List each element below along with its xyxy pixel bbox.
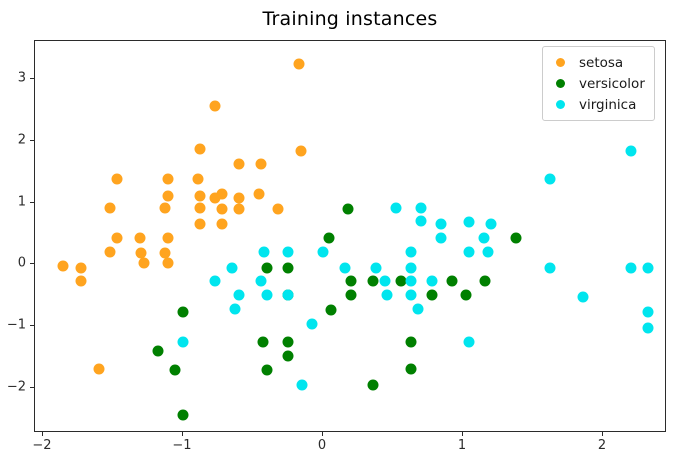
data-point-virginica (229, 303, 240, 314)
data-point-virginica (177, 337, 188, 348)
y-tick-mark (30, 78, 34, 79)
data-point-versicolor (261, 262, 272, 273)
data-point-setosa (253, 189, 264, 200)
data-point-virginica (282, 247, 293, 258)
data-point-versicolor (368, 379, 379, 390)
data-point-virginica (479, 232, 490, 243)
x-tick-label: 0 (318, 438, 326, 453)
data-point-versicolor (323, 232, 334, 243)
data-point-virginica (483, 247, 494, 258)
data-point-setosa (193, 174, 204, 185)
scatter-plot-figure: Training instances −2−1012 −2−10123 seto… (0, 0, 700, 457)
data-point-setosa (294, 59, 305, 70)
data-point-setosa (233, 159, 244, 170)
y-tick-label: 0 (18, 256, 26, 271)
y-tick-label: 1 (18, 194, 26, 209)
data-point-setosa (194, 219, 205, 230)
x-tick-label: 2 (598, 438, 606, 453)
data-point-virginica (486, 219, 497, 230)
data-point-versicolor (326, 305, 337, 316)
data-point-versicolor (346, 276, 357, 287)
data-point-setosa (75, 276, 86, 287)
legend: setosaversicolorvirginica (542, 46, 655, 121)
data-point-virginica (463, 337, 474, 348)
x-tick-mark (322, 432, 323, 436)
data-point-setosa (295, 145, 306, 156)
data-point-setosa (233, 192, 244, 203)
data-point-versicolor (446, 276, 457, 287)
data-point-virginica (544, 262, 555, 273)
data-point-virginica (413, 303, 424, 314)
x-tick-label: −1 (172, 438, 191, 453)
data-point-virginica (642, 262, 653, 273)
x-tick-label: 1 (458, 438, 466, 453)
data-point-setosa (57, 260, 68, 271)
legend-item-virginica[interactable]: virginica (550, 94, 645, 115)
data-point-virginica (379, 276, 390, 287)
data-point-virginica (390, 202, 401, 213)
legend-label: virginica (579, 97, 636, 113)
data-point-versicolor (406, 364, 417, 375)
data-point-setosa (162, 232, 173, 243)
x-tick-mark (602, 432, 603, 436)
data-point-virginica (626, 262, 637, 273)
data-point-setosa (105, 202, 116, 213)
data-point-virginica (544, 174, 555, 185)
data-point-setosa (105, 247, 116, 258)
x-tick-mark (42, 432, 43, 436)
legend-marker-icon (556, 100, 565, 109)
legend-item-setosa[interactable]: setosa (550, 52, 645, 73)
data-point-virginica (642, 307, 653, 318)
y-tick-mark (30, 202, 34, 203)
data-point-virginica (406, 262, 417, 273)
data-point-versicolor (152, 345, 163, 356)
data-point-setosa (233, 203, 244, 214)
data-point-virginica (578, 291, 589, 302)
data-point-versicolor (257, 337, 268, 348)
data-point-virginica (340, 262, 351, 273)
data-point-virginica (416, 216, 427, 227)
x-tick-mark (462, 432, 463, 436)
data-point-virginica (435, 219, 446, 230)
y-tick-label: −1 (7, 318, 26, 333)
data-point-setosa (210, 100, 221, 111)
data-point-versicolor (177, 410, 188, 421)
data-point-setosa (162, 258, 173, 269)
x-tick-mark (182, 432, 183, 436)
y-tick-mark (30, 387, 34, 388)
data-point-setosa (112, 174, 123, 185)
data-point-versicolor (460, 289, 471, 300)
data-point-virginica (406, 289, 417, 300)
data-point-virginica (233, 289, 244, 300)
y-tick-mark (30, 325, 34, 326)
data-point-virginica (256, 276, 267, 287)
data-point-versicolor (480, 276, 491, 287)
data-point-virginica (261, 289, 272, 300)
data-point-versicolor (346, 289, 357, 300)
y-tick-label: 3 (18, 71, 26, 86)
data-point-setosa (273, 203, 284, 214)
legend-marker-icon (556, 79, 565, 88)
data-point-virginica (306, 318, 317, 329)
data-point-setosa (256, 159, 267, 170)
data-point-setosa (75, 262, 86, 273)
data-point-versicolor (169, 365, 180, 376)
data-point-setosa (194, 190, 205, 201)
data-point-virginica (626, 145, 637, 156)
y-tick-label: −2 (7, 379, 26, 394)
data-point-virginica (296, 379, 307, 390)
data-point-setosa (217, 203, 228, 214)
data-point-virginica (416, 202, 427, 213)
data-point-virginica (259, 247, 270, 258)
data-point-virginica (382, 289, 393, 300)
y-tick-mark (30, 140, 34, 141)
data-point-versicolor (343, 203, 354, 214)
legend-item-versicolor[interactable]: versicolor (550, 73, 645, 94)
data-point-virginica (427, 276, 438, 287)
data-point-versicolor (282, 350, 293, 361)
data-point-virginica (642, 323, 653, 334)
data-point-versicolor (406, 337, 417, 348)
data-point-virginica (406, 247, 417, 258)
data-point-versicolor (261, 365, 272, 376)
y-tick-mark (30, 263, 34, 264)
data-point-versicolor (368, 276, 379, 287)
data-point-setosa (162, 190, 173, 201)
data-point-versicolor (427, 290, 438, 301)
data-point-virginica (435, 232, 446, 243)
data-point-virginica (210, 276, 221, 287)
data-point-setosa (162, 174, 173, 185)
y-tick-label: 2 (18, 133, 26, 148)
data-point-versicolor (177, 307, 188, 318)
page-title: Training instances (0, 8, 700, 30)
data-point-versicolor (282, 262, 293, 273)
legend-marker-icon (556, 58, 565, 67)
data-point-setosa (194, 202, 205, 213)
data-point-setosa (112, 232, 123, 243)
data-point-setosa (138, 258, 149, 269)
x-tick-label: −2 (32, 438, 51, 453)
data-point-setosa (134, 232, 145, 243)
data-point-versicolor (282, 337, 293, 348)
data-point-setosa (93, 364, 104, 375)
data-point-versicolor (511, 232, 522, 243)
data-point-virginica (463, 247, 474, 258)
data-point-virginica (406, 276, 417, 287)
data-point-virginica (463, 217, 474, 228)
data-point-virginica (282, 289, 293, 300)
data-point-setosa (194, 144, 205, 155)
data-point-virginica (371, 262, 382, 273)
legend-label: setosa (579, 55, 623, 71)
data-point-setosa (210, 192, 221, 203)
legend-label: versicolor (579, 76, 645, 92)
data-point-virginica (226, 262, 237, 273)
data-point-virginica (317, 247, 328, 258)
data-point-setosa (217, 219, 228, 230)
data-point-setosa (159, 202, 170, 213)
